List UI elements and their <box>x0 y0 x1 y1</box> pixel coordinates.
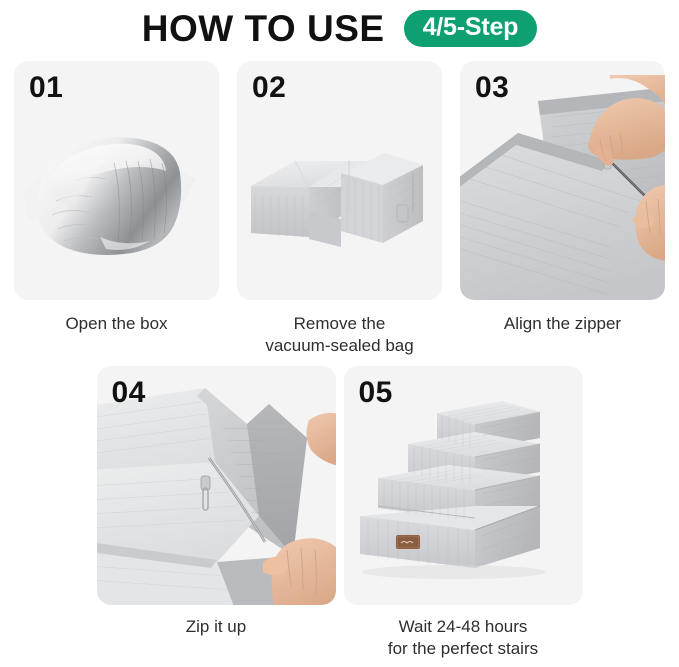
steps-row-top: 01 <box>0 52 679 358</box>
step-caption-02: Remove the vacuum-sealed bag <box>265 313 413 358</box>
step-image-card-05: 05 <box>344 366 583 605</box>
step-number-04: 04 <box>112 378 146 408</box>
step-caption-01: Open the box <box>65 313 167 335</box>
step-count-badge: 4/5-Step <box>404 10 538 47</box>
brand-tag-icon <box>396 535 420 549</box>
step-number-01: 01 <box>29 73 63 103</box>
page-header: HOW TO USE 4/5-Step <box>0 0 679 52</box>
steps-row-bottom: 04 <box>0 358 679 661</box>
step-caption-04: Zip it up <box>186 616 246 638</box>
step-card-02: 02 <box>237 61 442 358</box>
step-image-card-02: 02 <box>237 61 442 300</box>
step-number-03: 03 <box>475 73 509 103</box>
step-caption-03: Align the zipper <box>504 313 621 335</box>
step-caption-05: Wait 24-48 hours for the perfect stairs <box>388 616 538 661</box>
step-card-04: 04 <box>97 366 336 661</box>
step-image-card-04: 04 <box>97 366 336 605</box>
step-card-01: 01 <box>14 61 219 358</box>
step-image-card-03: 03 <box>460 61 665 300</box>
step-image-card-01: 01 <box>14 61 219 300</box>
page-title: HOW TO USE <box>142 10 385 47</box>
step-card-05: 05 <box>344 366 583 661</box>
step-number-02: 02 <box>252 73 286 103</box>
step-card-03: 03 <box>460 61 665 358</box>
step-number-05: 05 <box>359 378 393 408</box>
